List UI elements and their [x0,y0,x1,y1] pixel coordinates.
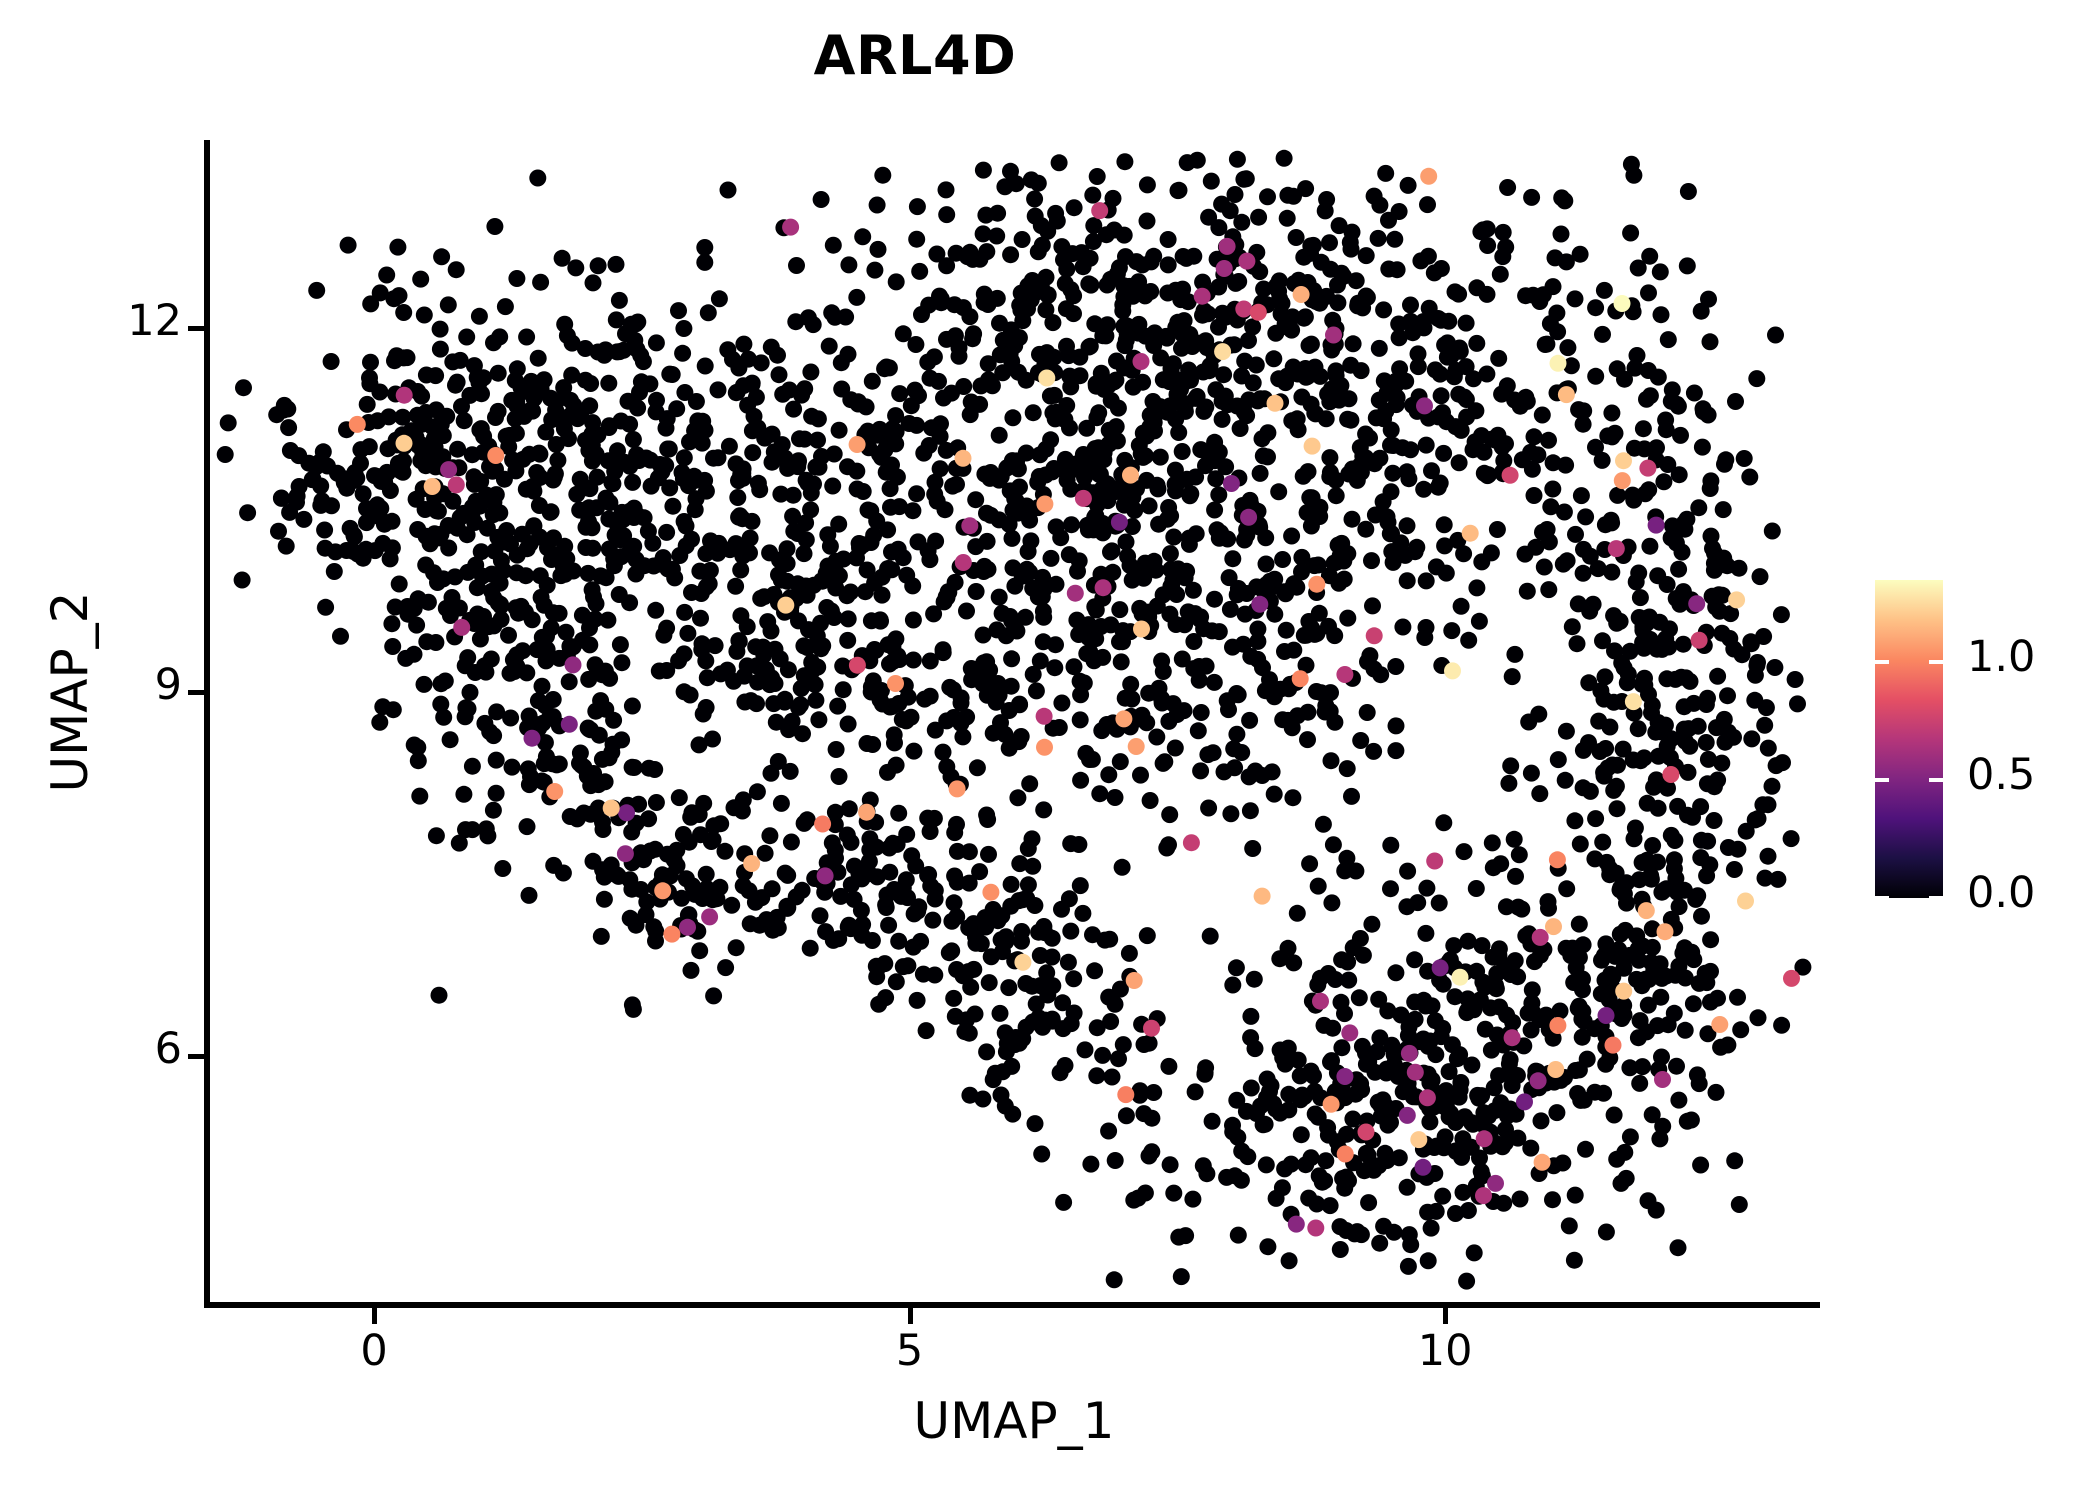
scatter-point [1507,868,1524,885]
scatter-point [1606,1107,1623,1124]
scatter-point [1130,316,1147,333]
scatter-point [732,562,749,579]
scatter-point [945,990,962,1007]
scatter-point [432,321,449,338]
scatter-point [1075,490,1092,507]
scatter-point [440,461,457,478]
scatter-point [1558,723,1575,740]
scatter-point [927,891,944,908]
scatter-point [1066,658,1083,675]
scatter-point [1160,256,1177,273]
scatter-point [1398,898,1415,915]
scatter-point [555,865,572,882]
scatter-point [951,348,968,365]
scatter-point [1714,625,1731,642]
scatter-point [1288,229,1305,246]
scatter-point [1453,1149,1470,1166]
scatter-point [624,698,641,715]
scatter-point [759,613,776,630]
scatter-point [1495,224,1512,241]
scatter-point [1063,1015,1080,1032]
scatter-point [803,484,820,501]
scatter-point [1042,431,1059,448]
scatter-point [839,632,856,649]
scatter-point [1504,1029,1521,1046]
scatter-point [955,378,972,395]
scatter-point [529,641,546,658]
scatter-point [880,917,897,934]
scatter-point [1494,248,1511,265]
scatter-point [1710,586,1727,603]
scatter-point [1185,633,1202,650]
scatter-point [500,627,517,644]
scatter-point [938,442,955,459]
scatter-point [1635,420,1652,437]
scatter-point [411,788,428,805]
scatter-point [946,824,963,841]
scatter-point [312,453,329,470]
scatter-point [1181,536,1198,553]
scatter-point [729,489,746,506]
scatter-point [1451,454,1468,471]
scatter-point [790,454,807,471]
scatter-point [1382,837,1399,854]
scatter-point [1698,734,1715,751]
scatter-point [935,744,952,761]
scatter-point [1456,1108,1473,1125]
scatter-point [1019,300,1036,317]
scatter-point [1392,534,1409,551]
scatter-point [1567,526,1584,543]
scatter-plot-axes [208,140,1820,1305]
scatter-point [462,684,479,701]
scatter-point [1399,1179,1416,1196]
scatter-point [1741,469,1758,486]
scatter-point [751,481,768,498]
scatter-point [469,579,486,596]
scatter-point [1587,368,1604,385]
scatter-point [1475,1187,1492,1204]
scatter-point [935,641,952,658]
scatter-point [1428,1138,1445,1155]
scatter-point [1063,516,1080,533]
scatter-point [782,763,799,780]
scatter-point [1359,704,1376,721]
scatter-point [1025,666,1042,683]
scatter-point [1109,265,1126,282]
scatter-point [717,959,734,976]
scatter-point [1051,154,1068,171]
scatter-point [1727,393,1744,410]
scatter-point [1004,409,1021,426]
scatter-point [1575,779,1592,796]
scatter-point [525,518,542,535]
scatter-point [464,821,481,838]
scatter-point [1321,393,1338,410]
scatter-point [1124,278,1141,295]
scatter-point [1309,976,1326,993]
scatter-point [1311,1167,1328,1184]
scatter-point [782,219,799,236]
scatter-point [1162,397,1179,414]
scatter-point [1361,647,1378,664]
scatter-point [1506,646,1523,663]
scatter-point [1466,1244,1483,1261]
scatter-point [1417,925,1434,942]
scatter-point [1022,532,1039,549]
scatter-point [624,996,641,1013]
scatter-point [1500,775,1517,792]
scatter-point [1113,653,1130,670]
scatter-point [1047,205,1064,222]
scatter-point [1492,266,1509,283]
scatter-point [1679,1113,1696,1130]
scatter-point [1605,607,1622,624]
scatter-point [1490,350,1507,367]
scatter-point [1587,299,1604,316]
scatter-point [1598,1007,1615,1024]
scatter-point [1670,561,1687,578]
scatter-point [746,408,763,425]
scatter-point [1159,330,1176,347]
scatter-point [1175,248,1192,265]
scatter-point [490,365,507,382]
scatter-point [681,433,698,450]
scatter-point [1082,277,1099,294]
scatter-point [1336,1005,1353,1022]
scatter-point [1394,619,1411,636]
scatter-point [938,588,955,605]
scatter-point [1072,877,1089,894]
scatter-point [1131,437,1148,454]
colorbar-tick-mark [1875,778,1889,782]
scatter-point [1153,653,1170,670]
colorbar-tick-mark [1875,896,1889,900]
scatter-point [1203,173,1220,190]
scatter-point [1502,1051,1519,1068]
y-axis-label: UMAP_2 [41,392,99,992]
scatter-point [1266,786,1283,803]
scatter-point [1293,389,1310,406]
scatter-point [1267,395,1284,412]
scatter-point [978,1043,995,1060]
scatter-point [941,944,958,961]
scatter-point [1003,650,1020,667]
scatter-point [1053,695,1070,712]
colorbar-tick-mark [1929,660,1943,664]
scatter-point [1139,213,1156,230]
scatter-point [973,377,990,394]
scatter-point [863,612,880,629]
scatter-point [323,353,340,370]
scatter-point [788,257,805,274]
scatter-point [1107,789,1124,806]
scatter-point [1065,970,1082,987]
scatter-point [784,508,801,525]
scatter-point [1236,353,1253,370]
scatter-point [739,657,756,674]
scatter-point [859,735,876,752]
scatter-point [1773,1017,1790,1034]
scatter-point [1336,862,1353,879]
scatter-point [349,416,366,433]
scatter-point [1131,600,1148,617]
scatter-point [1224,639,1241,656]
scatter-point [727,578,744,595]
scatter-point [1454,1130,1471,1147]
scatter-point [1182,485,1199,502]
scatter-point [1036,708,1053,725]
scatter-point [710,381,727,398]
scatter-point [554,250,571,267]
scatter-point [647,602,664,619]
scatter-point [308,282,325,299]
scatter-point [1062,378,1079,395]
scatter-point [676,604,693,621]
scatter-point [1533,1112,1550,1129]
scatter-point [1571,949,1588,966]
scatter-point [1162,1156,1179,1173]
scatter-point [658,420,675,437]
scatter-point [611,586,628,603]
scatter-point [578,519,595,536]
scatter-point [1711,603,1728,620]
scatter-point [1499,179,1516,196]
scatter-point [539,577,556,594]
scatter-point [670,302,687,319]
scatter-point [855,536,872,553]
scatter-point [1178,563,1195,580]
scatter-point [1357,521,1374,538]
scatter-point [1577,1141,1594,1158]
scatter-point [1571,916,1588,933]
scatter-point [1575,416,1592,433]
scatter-point [1566,1252,1583,1269]
scatter-point [611,292,628,309]
scatter-point [1173,340,1190,357]
scatter-point [1310,878,1327,895]
scatter-point [1715,501,1732,518]
scatter-point [909,992,926,1009]
scatter-point [1241,712,1258,729]
scatter-point [1230,273,1247,290]
scatter-point [1110,400,1127,417]
scatter-point [701,908,718,925]
scatter-point [749,674,766,691]
scatter-point [1311,508,1328,525]
scatter-point [358,541,375,558]
scatter-point [731,633,748,650]
scatter-point [316,522,333,539]
scatter-point [453,398,470,415]
x-tick-mark [1443,1308,1448,1324]
scatter-point [1476,1130,1493,1147]
scatter-point [1606,642,1623,659]
scatter-point [1555,556,1572,573]
scatter-point [488,785,505,802]
scatter-point [472,631,489,648]
scatter-point [647,923,664,940]
scatter-point [1082,338,1099,355]
scatter-point [632,347,649,364]
scatter-point [608,311,625,328]
scatter-point [988,228,1005,245]
scatter-point [1420,168,1437,185]
scatter-point [1047,636,1064,653]
scatter-point [927,533,944,550]
scatter-point [1534,407,1551,424]
scatter-point [1323,1096,1340,1113]
scatter-point [905,743,922,760]
scatter-point [601,417,618,434]
scatter-point [1389,389,1406,406]
scatter-point [530,350,547,367]
scatter-point [1511,846,1528,863]
scatter-point [1117,248,1134,265]
scatter-point [1430,408,1447,425]
scatter-point [288,494,305,511]
scatter-point [1345,335,1362,352]
x-tick-label: 0 [284,1330,464,1373]
scatter-point [831,768,848,785]
scatter-point [422,452,439,469]
scatter-point [1304,438,1321,455]
scatter-point [809,432,826,449]
scatter-point [971,863,988,880]
scatter-point [947,327,964,344]
scatter-point [1673,669,1690,686]
scatter-point [860,502,877,519]
scatter-point [907,336,924,353]
scatter-point [577,539,594,556]
scatter-point [536,755,553,772]
scatter-point [835,551,852,568]
scatter-point [1160,1058,1177,1075]
scatter-point [410,752,427,769]
scatter-point [1217,388,1234,405]
scatter-point [1293,286,1310,303]
scatter-point [1343,788,1360,805]
scatter-point [1254,767,1271,784]
scatter-point [1726,1152,1743,1169]
scatter-point [1304,489,1321,506]
scatter-point [825,237,842,254]
scatter-point [1281,1252,1298,1269]
scatter-point [317,540,334,557]
scatter-point [1192,608,1209,625]
scatter-point [1517,546,1534,563]
scatter-point [1628,573,1645,590]
scatter-point [683,962,700,979]
scatter-point [1003,876,1020,893]
scatter-point [380,440,397,457]
scatter-point [933,294,950,311]
scatter-point [763,339,780,356]
scatter-point [887,675,904,692]
scatter-point [1643,704,1660,721]
scatter-point [1596,282,1613,299]
scatter-point [605,712,622,729]
scatter-point [1622,1128,1639,1145]
scatter-point [1708,1084,1725,1101]
scatter-point [1299,731,1316,748]
scatter-point [1569,635,1586,652]
scatter-point [1183,834,1200,851]
scatter-point [1377,165,1394,182]
x-tick-mark [372,1308,377,1324]
scatter-point [1750,1009,1767,1026]
scatter-point [1307,1220,1324,1237]
scatter-point [624,474,641,491]
scatter-point [561,673,578,690]
scatter-point [1435,814,1452,831]
scatter-point [967,491,984,508]
scatter-point [1485,859,1502,876]
scatter-point [686,472,703,489]
scatter-point [779,540,796,557]
scatter-point [688,490,705,507]
scatter-point [1474,937,1491,954]
scatter-point [1686,385,1703,402]
scatter-point [1692,1157,1709,1174]
scatter-point [676,384,693,401]
scatter-point [1571,1061,1588,1078]
scatter-point [1388,717,1405,734]
scatter-point [435,709,452,726]
scatter-point [1112,753,1129,770]
scatter-point [386,352,403,369]
scatter-point [664,498,681,515]
scatter-point [817,867,834,884]
scatter-point [1078,420,1095,437]
scatter-point [779,573,796,590]
scatter-point [1418,437,1435,454]
scatter-point [1045,349,1062,366]
scatter-point [869,868,886,885]
scatter-point [980,846,997,863]
scatter-point [596,891,613,908]
scatter-point [1652,263,1669,280]
scatter-point [1468,963,1485,980]
scatter-point [1355,947,1372,964]
scatter-point [1622,643,1639,660]
scatter-point [1365,743,1382,760]
scatter-point [558,624,575,641]
scatter-point [442,731,459,748]
scatter-point [1430,310,1447,327]
scatter-point [1691,1075,1708,1092]
scatter-point [1002,608,1019,625]
scatter-point [1293,1126,1310,1143]
scatter-point [1358,1124,1375,1141]
scatter-point [1316,1017,1333,1034]
scatter-point [899,957,916,974]
scatter-point [757,845,774,862]
scatter-point [1001,516,1018,533]
scatter-point [1160,836,1177,853]
scatter-point [958,603,975,620]
scatter-point [1011,855,1028,872]
scatter-point [1142,283,1159,300]
scatter-point [1482,976,1499,993]
scatter-point [1062,835,1079,852]
scatter-point [1690,499,1707,516]
scatter-point [629,400,646,417]
scatter-point [1039,987,1056,1004]
scatter-point [1567,290,1584,307]
scatter-point [1210,486,1227,503]
scatter-point [1603,514,1620,531]
